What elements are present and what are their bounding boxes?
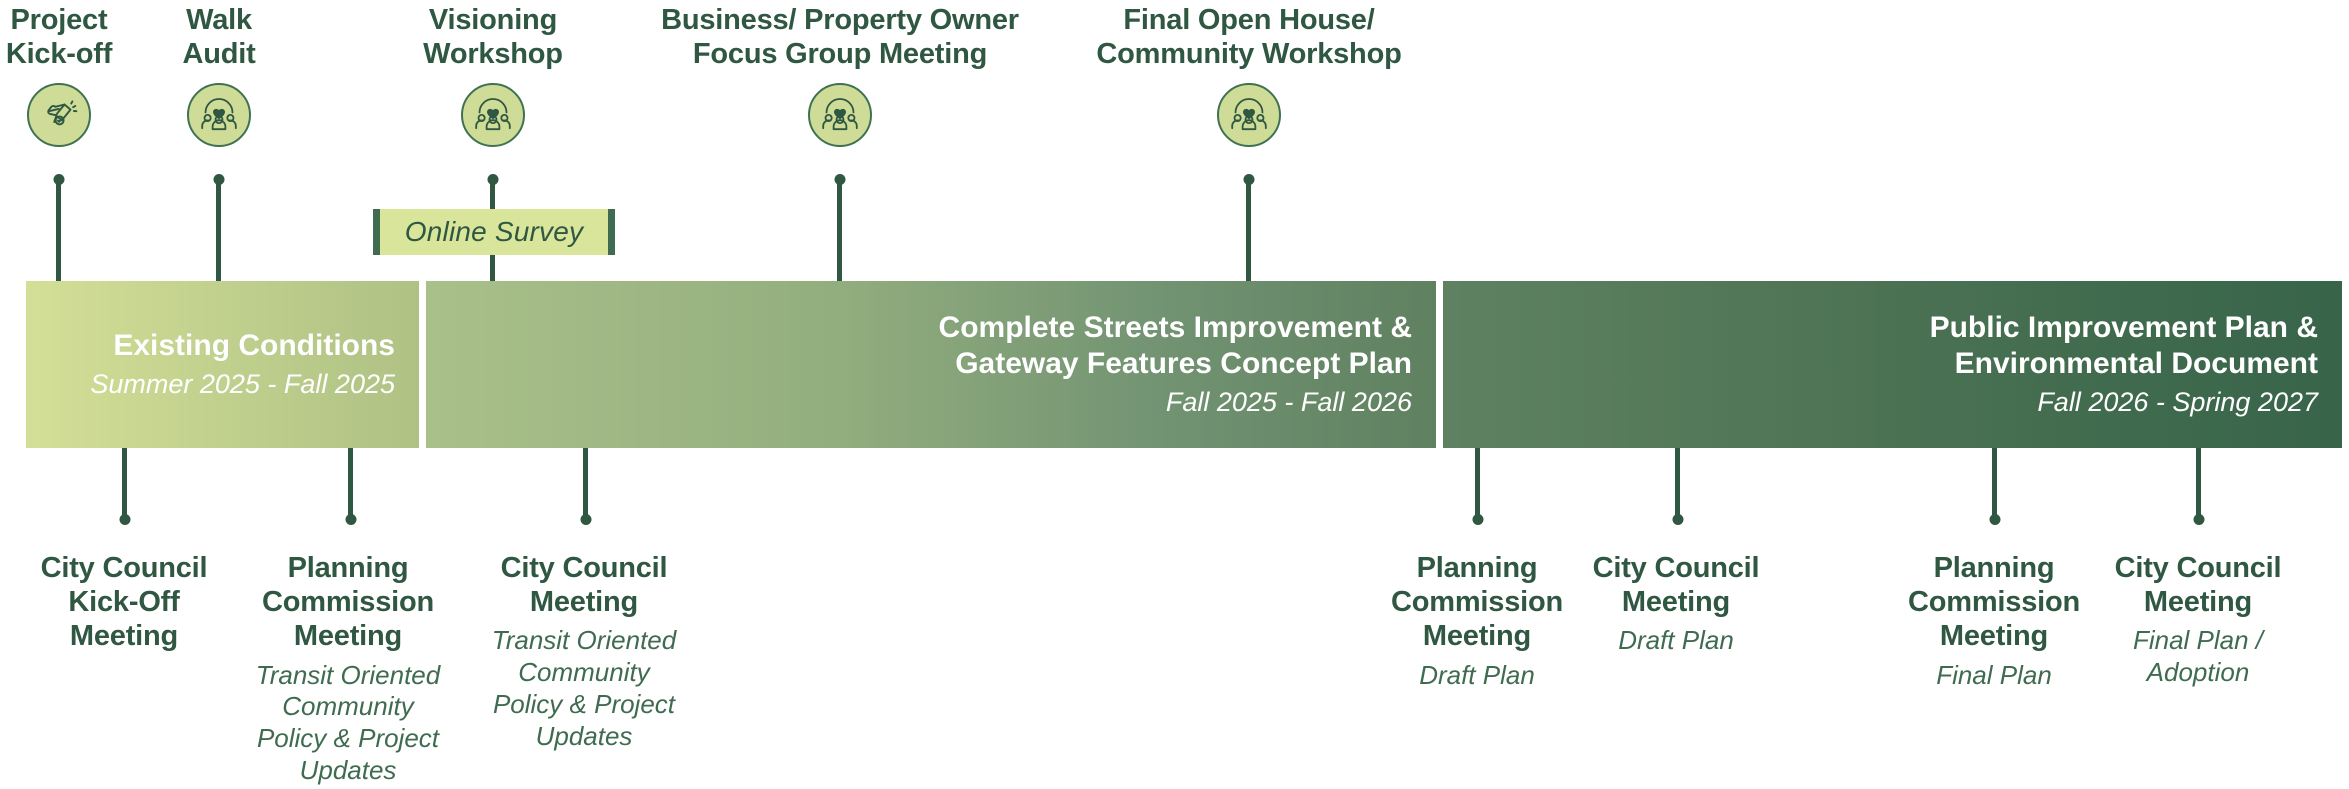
meeting-title: City Council Meeting (2089, 551, 2307, 619)
connector-project-kick-off (56, 177, 61, 285)
milestone-icon-final-open-house[interactable] (1217, 83, 1281, 147)
meeting-title: City Council Kick-Off Meeting (14, 551, 234, 654)
connector-dot (834, 174, 845, 185)
milestone-icon-business-focus-group[interactable] (808, 83, 872, 147)
phase-title: Existing Conditions (113, 328, 395, 364)
meeting-title: City Council Meeting (473, 551, 695, 619)
phase-title: Complete Streets Improvement & Gateway F… (939, 310, 1412, 382)
project-timeline-diagram: Project Kick-off Walk Audit Visioning Wo… (0, 0, 2349, 789)
community-heart-icon (1228, 95, 1270, 135)
meeting-title: City Council Meeting (1567, 551, 1785, 619)
phase-bar-public-improvement-plan[interactable]: Public Improvement Plan & Environmental … (1443, 281, 2342, 448)
meeting-subtitle: Final Plan / Adoption (2089, 625, 2307, 688)
meeting-label-planning-commission-tod: Planning Commission Meeting Transit Orie… (237, 551, 459, 787)
milestone-label-final-open-house: Final Open House/ Community Workshop (1059, 3, 1439, 71)
phase-dates: Summer 2025 - Fall 2025 (90, 368, 395, 402)
connector-dot (1989, 514, 2000, 525)
milestone-label-visioning-workshop: Visioning Workshop (383, 3, 603, 71)
megaphone-icon (39, 95, 79, 135)
phase-bar-complete-streets[interactable]: Complete Streets Improvement & Gateway F… (426, 281, 1436, 448)
connector-planning-commission-draft (1475, 448, 1480, 522)
connector-dot (119, 514, 130, 525)
phase-bar-existing-conditions[interactable]: Existing Conditions Summer 2025 - Fall 2… (26, 281, 419, 448)
phase-dates: Fall 2025 - Fall 2026 (1166, 386, 1412, 420)
connector-city-council-tod (583, 448, 588, 522)
phase-title: Public Improvement Plan & Environmental … (1930, 310, 2318, 382)
milestone-icon-walk-audit[interactable] (187, 83, 251, 147)
connector-dot (53, 174, 64, 185)
meeting-title: Planning Commission Meeting (1883, 551, 2105, 654)
milestone-icon-project-kick-off[interactable] (27, 83, 91, 147)
meeting-subtitle: Draft Plan (1567, 625, 1785, 657)
online-survey-bar[interactable]: Online Survey (373, 209, 615, 255)
connector-city-council-kick-off (122, 448, 127, 522)
meeting-label-planning-commission-draft: Planning Commission Meeting Draft Plan (1366, 551, 1588, 691)
connector-final-open-house (1246, 177, 1251, 285)
milestone-icon-visioning-workshop[interactable] (461, 83, 525, 147)
meeting-label-city-council-draft: City Council Meeting Draft Plan (1567, 551, 1785, 657)
community-heart-icon (819, 95, 861, 135)
connector-dot (2193, 514, 2204, 525)
connector-city-council-final (2196, 448, 2201, 522)
milestone-label-project-kick-off: Project Kick-off (0, 3, 139, 71)
connector-dot (580, 514, 591, 525)
connector-city-council-draft (1675, 448, 1680, 522)
meeting-subtitle: Transit Oriented Community Policy & Proj… (473, 625, 695, 752)
connector-dot (1672, 514, 1683, 525)
meeting-title: Planning Commission Meeting (237, 551, 459, 654)
connector-planning-commission-final (1992, 448, 1997, 522)
meeting-subtitle: Final Plan (1883, 660, 2105, 692)
meeting-title: Planning Commission Meeting (1366, 551, 1588, 654)
survey-cap-left (373, 209, 380, 255)
meeting-label-city-council-tod: City Council Meeting Transit Oriented Co… (473, 551, 695, 752)
meeting-label-planning-commission-final: Planning Commission Meeting Final Plan (1883, 551, 2105, 691)
milestone-label-walk-audit: Walk Audit (139, 3, 299, 71)
phase-dates: Fall 2026 - Spring 2027 (2037, 386, 2318, 420)
meeting-label-city-council-final: City Council Meeting Final Plan / Adopti… (2089, 551, 2307, 689)
meeting-label-city-council-kick-off: City Council Kick-Off Meeting (14, 551, 234, 660)
milestone-label-business-focus-group: Business/ Property Owner Focus Group Mee… (630, 3, 1050, 71)
connector-dot (1472, 514, 1483, 525)
connector-business-focus-group (837, 177, 842, 285)
connector-dot (213, 174, 224, 185)
connector-dot (487, 174, 498, 185)
community-heart-icon (472, 95, 514, 135)
connector-walk-audit (216, 177, 221, 285)
meeting-subtitle: Transit Oriented Community Policy & Proj… (237, 660, 459, 787)
meeting-subtitle: Draft Plan (1366, 660, 1588, 692)
connector-dot (345, 514, 356, 525)
community-heart-icon (198, 95, 240, 135)
online-survey-label: Online Survey (405, 216, 583, 248)
connector-planning-commission-tod (348, 448, 353, 522)
survey-cap-right (608, 209, 615, 255)
connector-dot (1243, 174, 1254, 185)
